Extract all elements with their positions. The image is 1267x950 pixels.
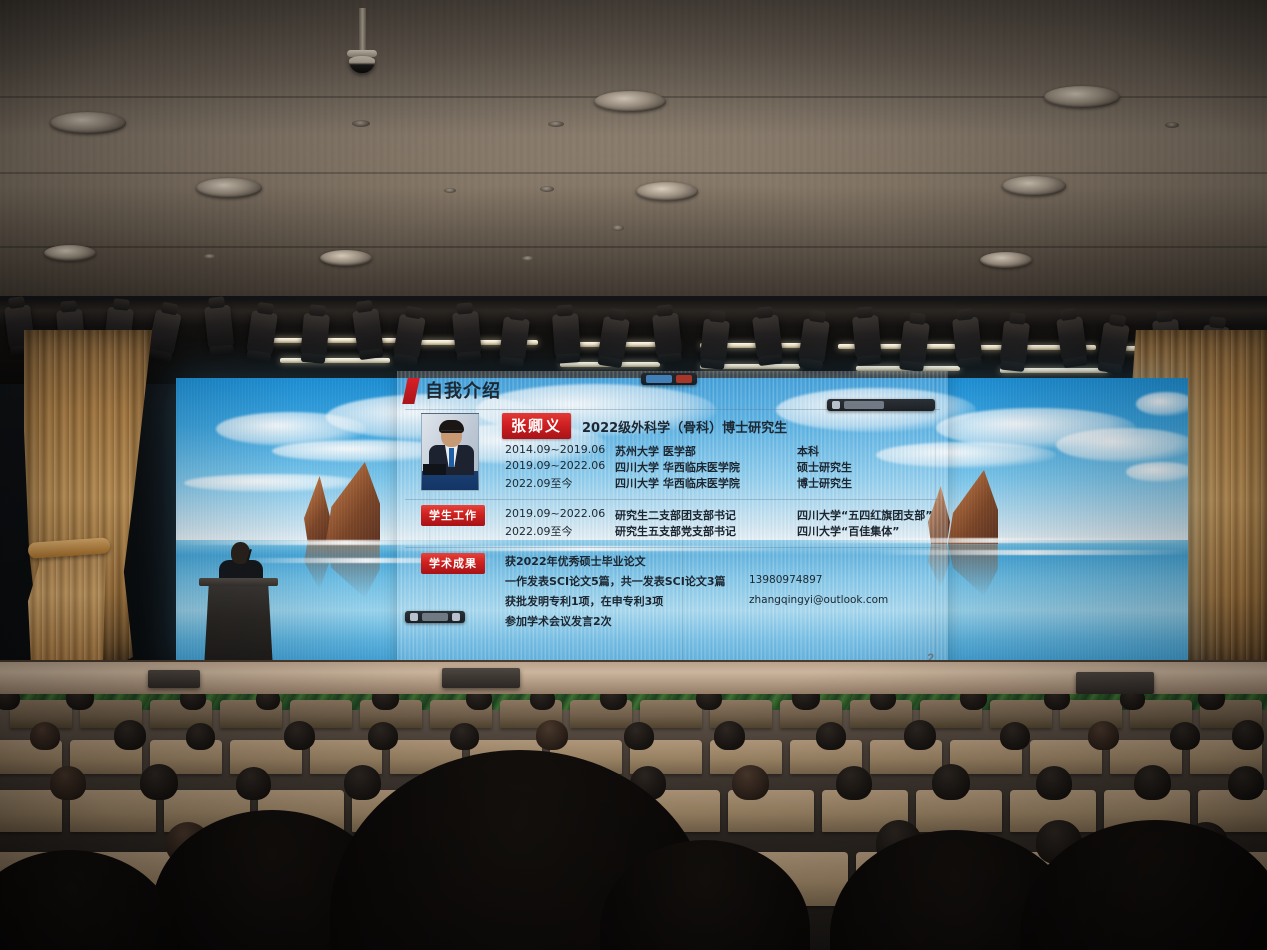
student-work-honor: 四川大学“百佳集体”: [797, 523, 899, 539]
speaker-name-badge: 张卿义: [502, 413, 571, 439]
ceiling-downlight: [1002, 176, 1066, 196]
toolbar-chip-icon: [844, 401, 884, 409]
audience-seating: [0, 694, 1267, 950]
stage-spotlight: [899, 320, 930, 367]
student-work-org: 研究生五支部党支部书记: [615, 523, 736, 539]
title-accent-bar: [402, 378, 420, 404]
academic-bullet: 获2022年优秀硕士毕业论文: [505, 553, 646, 569]
section-tag-academic: 学术成果: [421, 553, 485, 574]
presenter-toolbar-bottom-left[interactable]: [405, 611, 465, 623]
ceiling-downlight: [1044, 86, 1120, 108]
ceiling-minilight: [352, 120, 370, 127]
stage-curtain-left-tail: [28, 545, 106, 667]
education-degree: 本科: [797, 443, 819, 459]
stage-spotlight: [300, 313, 330, 359]
page-title: 自我介绍: [425, 377, 501, 403]
presenter-status-toolbar-top[interactable]: [641, 373, 697, 385]
education-degree: 博士研究生: [797, 475, 852, 491]
camera-mount-stem: [359, 8, 366, 56]
stage-lightbar: [280, 358, 390, 363]
stage-monitor-panel: [442, 668, 520, 688]
stage-spotlight: [552, 313, 581, 359]
ceiling-downlight: [980, 252, 1032, 268]
wallpaper-cloud: [1136, 392, 1188, 416]
contact-phone: 13980974897: [749, 574, 823, 586]
toolbar-dot-icon: [832, 401, 840, 409]
stage-spotlight: [452, 311, 482, 357]
ceiling-minilight: [612, 225, 624, 231]
ceiling-downlight: [196, 178, 262, 198]
ceiling-downlight: [320, 250, 372, 266]
ceiling-minilight: [522, 256, 534, 261]
education-org: 四川大学 华西临床医学院: [615, 475, 740, 491]
stage-spotlight: [499, 316, 530, 363]
stage-monitor-panel: [148, 670, 200, 688]
presenter-notes-toolbar-right[interactable]: [827, 399, 935, 411]
section-tag-student-work: 学生工作: [421, 505, 485, 526]
wallpaper-cloud: [184, 474, 364, 492]
wallpaper-cloud: [1056, 428, 1188, 462]
stage-spotlight: [652, 313, 682, 359]
auditorium-scene: 自我介绍 张卿义 2022级外科学（骨科）博士研究生 2014.09~2019.…: [0, 0, 1267, 950]
stage-spotlight: [852, 315, 882, 361]
academic-bullet: 获批发明专利1项，在申专利3项: [505, 593, 663, 609]
contact-email: zhangqingyi@outlook.com: [749, 594, 888, 606]
student-work-honor: 四川大学“五四红旗团支部”: [797, 507, 932, 523]
academic-bullet: 一作发表SCI论文5篇，共一发表SCI论文3篇: [505, 573, 725, 589]
wallpaper-cloud: [1126, 462, 1188, 482]
student-work-date: 2022.09至今: [505, 523, 573, 539]
status-chip-icon: [646, 375, 672, 383]
stage-spotlight: [752, 314, 783, 361]
divider: [405, 499, 940, 500]
education-degree: 硕士研究生: [797, 459, 852, 475]
education-date: 2014.09~2019.06: [505, 443, 605, 456]
toolbar-dot-icon: [452, 613, 460, 621]
record-chip-icon: [676, 375, 692, 383]
education-date: 2022.09至今: [505, 475, 573, 491]
ceiling-minilight: [204, 254, 216, 259]
ceiling-minilight: [540, 186, 554, 192]
stage-monitor-panel: [1076, 672, 1154, 694]
education-org: 苏州大学 医学部: [615, 443, 696, 459]
stage-spotlight: [952, 317, 982, 363]
academic-bullet: 参加学术会议发言2次: [505, 613, 612, 629]
speaker-headline: 2022级外科学（骨科）博士研究生: [582, 417, 787, 436]
education-org: 四川大学 华西临床医学院: [615, 459, 740, 475]
toolbar-chip-icon: [422, 613, 448, 621]
ceiling: [0, 0, 1267, 300]
ceiling-downlight: [50, 112, 126, 134]
stage-spotlight: [699, 319, 729, 365]
ceiling-downlight: [44, 245, 96, 261]
ceiling-minilight: [548, 121, 564, 127]
ceiling-minilight: [444, 188, 456, 193]
ceiling-minilight: [1165, 122, 1179, 128]
student-work-date: 2019.09~2022.06: [505, 507, 605, 520]
lectern-top-surface: [199, 578, 278, 586]
lectern-podium: [204, 583, 273, 669]
student-work-org: 研究生二支部团支部书记: [615, 507, 736, 523]
ceiling-downlight: [636, 182, 698, 201]
education-date: 2019.09~2022.06: [505, 459, 605, 472]
ceiling-downlight: [594, 91, 666, 112]
divider: [405, 547, 940, 548]
powerpoint-slide[interactable]: 自我介绍 张卿义 2022级外科学（骨科）博士研究生 2014.09~2019.…: [397, 371, 948, 671]
toolbar-dot-icon: [410, 613, 418, 621]
dome-security-camera-icon: [349, 56, 375, 73]
stage-spotlight: [204, 305, 234, 351]
speaker-portrait-photo: [421, 413, 479, 491]
stage-spotlight: [999, 321, 1029, 367]
